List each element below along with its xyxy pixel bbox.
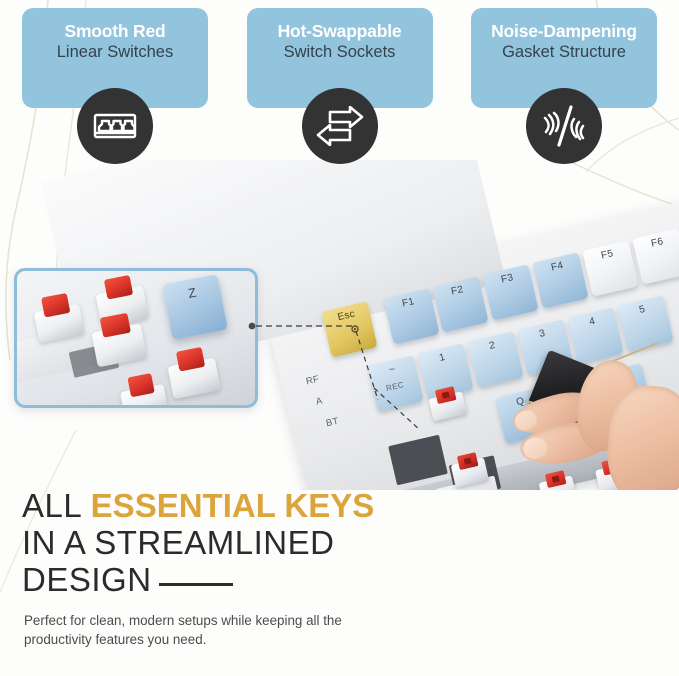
feature-card-subtitle: Linear Switches bbox=[57, 43, 173, 63]
keycap-z-closeup[interactable]: Z bbox=[162, 274, 228, 340]
keycap-label: ~ bbox=[387, 360, 396, 376]
product-infographic: Smooth Red Linear Switches Hot-Swappable… bbox=[0, 0, 679, 676]
headline-block: ALL ESSENTIAL KEYS IN A STREAMLINED DESI… bbox=[22, 487, 442, 598]
keycap-label: F6 bbox=[649, 232, 664, 250]
headline-underscore-rule bbox=[159, 583, 233, 586]
red-switch-closeup bbox=[118, 371, 169, 408]
feature-card-smooth-red[interactable]: Smooth Red Linear Switches bbox=[22, 8, 208, 108]
feature-card-title: Noise-Dampening bbox=[491, 21, 637, 41]
muted-sound-waves-icon bbox=[526, 88, 602, 164]
headline-line-3: DESIGN bbox=[22, 561, 442, 598]
headline-line-2: IN A STREAMLINED bbox=[22, 524, 442, 561]
keycap-label: 1 bbox=[437, 348, 446, 364]
body-paragraph: Perfect for clean, modern setups while k… bbox=[24, 611, 372, 649]
feature-card-subtitle: Switch Sockets bbox=[284, 43, 396, 63]
keycap-label: F4 bbox=[549, 256, 564, 274]
feature-card-hot-swappable[interactable]: Hot-Swappable Switch Sockets bbox=[247, 8, 433, 108]
red-switch-closeup bbox=[89, 311, 147, 368]
feature-card-noise-dampening[interactable]: Noise-Dampening Gasket Structure bbox=[471, 8, 657, 108]
feature-card-title: Smooth Red bbox=[64, 21, 165, 41]
keycap-label: 3 bbox=[537, 324, 546, 340]
headline-emphasis: ESSENTIAL KEYS bbox=[91, 487, 375, 524]
switch-closeup-inset: Z bbox=[14, 268, 258, 408]
keycap-label: F3 bbox=[499, 268, 514, 286]
red-switch-closeup bbox=[31, 291, 85, 343]
headline-plain: ALL bbox=[22, 487, 91, 524]
headline-line-3-text: DESIGN bbox=[22, 561, 152, 598]
keycap-label: 4 bbox=[587, 312, 596, 328]
keycap-label: F1 bbox=[400, 292, 415, 310]
feature-card-title: Hot-Swappable bbox=[278, 21, 402, 41]
red-switch-closeup bbox=[165, 345, 221, 399]
feature-card-subtitle: Gasket Structure bbox=[502, 43, 626, 63]
switch-sockets-row-icon bbox=[77, 88, 153, 164]
keycap-label: Esc bbox=[336, 305, 357, 324]
keycap-label: 2 bbox=[487, 336, 496, 352]
keycap-label: F5 bbox=[599, 244, 614, 262]
swap-arrows-icon bbox=[302, 88, 378, 164]
feature-cards-row: Smooth Red Linear Switches Hot-Swappable… bbox=[0, 0, 679, 160]
keycap-label: Z bbox=[186, 279, 198, 301]
hand-holding-switch-puller bbox=[500, 350, 679, 490]
keycap-label: F2 bbox=[449, 280, 464, 298]
headline-line-1: ALL ESSENTIAL KEYS bbox=[22, 487, 442, 524]
keycap-label: 5 bbox=[637, 300, 646, 316]
